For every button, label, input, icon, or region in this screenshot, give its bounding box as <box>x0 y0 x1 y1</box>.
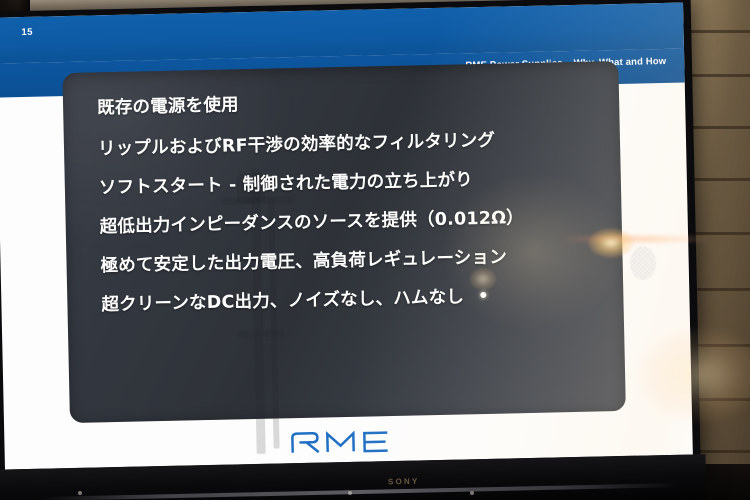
sony-brand-label: SONY <box>388 477 420 487</box>
light-reflection-dot <box>480 292 486 298</box>
list-item: ソフトスタート - 制御された電力の立ち上がり <box>99 169 609 198</box>
tv-indicator-dot <box>348 491 352 495</box>
list-item: リップルおよびRF干渉の効率的なフィルタリング <box>98 130 608 159</box>
list-item-with-glare: 超クリーンなDC出力、ノイズなし、ハムなし <box>101 286 611 315</box>
bullet-list: 既存の電源を使用 リップルおよびRF干渉の効率的なフィルタリング ソフトスタート… <box>97 89 612 314</box>
slide-number: 15 <box>21 27 33 38</box>
list-item: 極めて安定した出力電圧、高負荷レギュレーション <box>100 247 610 276</box>
list-item: 既存の電源を使用 <box>97 89 607 118</box>
tv-indicator-dot <box>78 491 82 495</box>
photo-scene: 15 RME Power Supplies – Why, What and Ho… <box>0 0 750 500</box>
list-item: 超低出力インピーダンスのソースを提供（0.012Ω） <box>100 208 610 237</box>
rme-logo <box>289 427 408 456</box>
list-item-label: 超クリーンなDC出力、ノイズなし、ハムなし <box>101 287 464 315</box>
presentation-slide: 15 RME Power Supplies – Why, What and Ho… <box>0 3 693 470</box>
content-panel: 既存の電源を使用 リップルおよびRF干渉の効率的なフィルタリング ソフトスタート… <box>62 61 626 423</box>
ghost-silhouette <box>238 330 284 337</box>
tv-indicator-dot <box>470 491 474 495</box>
